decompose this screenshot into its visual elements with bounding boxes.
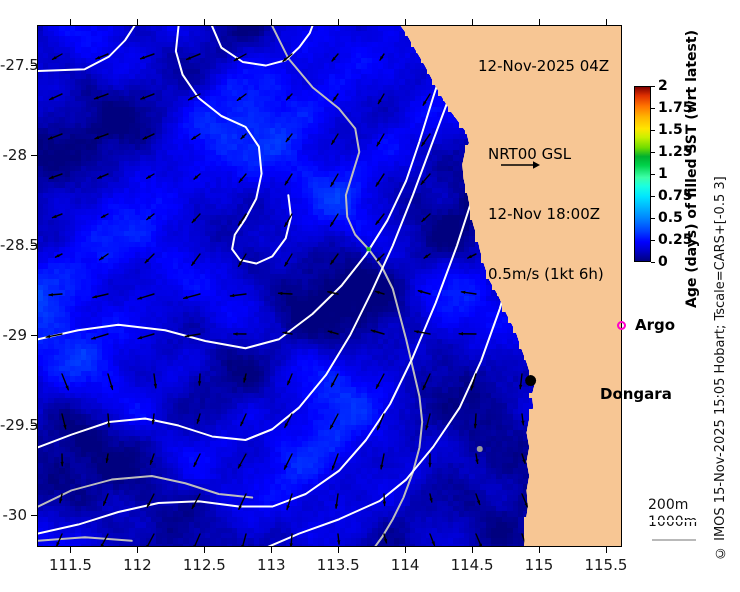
depth-1000m-label: 1000m bbox=[648, 514, 718, 531]
y-tick-label: -28.5 bbox=[0, 236, 27, 254]
colorbar bbox=[634, 86, 651, 262]
x-tick-top bbox=[606, 19, 607, 25]
colorbar-tick-label: 0 bbox=[658, 254, 668, 270]
x-tick-top bbox=[405, 19, 406, 25]
colorbar-tick bbox=[651, 86, 655, 87]
colorbar-tick-label: 1.5 bbox=[658, 122, 683, 138]
depth-200m-line bbox=[652, 520, 696, 522]
x-tick-top bbox=[472, 19, 473, 25]
y-tick-label: -28 bbox=[0, 146, 27, 164]
x-tick bbox=[539, 547, 540, 553]
colorbar-tick bbox=[651, 218, 655, 219]
x-tick-label: 115.5 bbox=[584, 556, 627, 574]
colorbar-tick bbox=[651, 196, 655, 197]
colorbar-tick bbox=[651, 130, 655, 131]
y-tick bbox=[31, 155, 37, 156]
x-tick bbox=[70, 547, 71, 553]
x-tick-label: 113 bbox=[257, 556, 286, 574]
colorbar-tick-label: 1 bbox=[658, 166, 668, 182]
depth-legend: 200m 1000m bbox=[648, 497, 718, 531]
x-tick-label: 111.5 bbox=[49, 556, 92, 574]
x-tick-top bbox=[70, 19, 71, 25]
x-tick-top bbox=[338, 19, 339, 25]
colorbar-tick-label: 2 bbox=[658, 78, 668, 94]
colorbar-tick bbox=[651, 152, 655, 153]
colorbar-tick-label: 0.5 bbox=[658, 210, 683, 226]
x-tick-top bbox=[271, 19, 272, 25]
x-tick bbox=[338, 547, 339, 553]
x-tick-top bbox=[204, 19, 205, 25]
map-plot-area[interactable]: 12-Nov-2025 04Z NRT00 GSL 12-Nov 18:00Z … bbox=[37, 25, 622, 547]
right-arrow-icon bbox=[500, 159, 540, 171]
x-tick-label: 114.5 bbox=[451, 556, 494, 574]
x-tick bbox=[606, 547, 607, 553]
x-tick-label: 112 bbox=[123, 556, 152, 574]
colorbar-tick bbox=[651, 174, 655, 175]
x-tick bbox=[271, 547, 272, 553]
y-tick-label: -29.5 bbox=[0, 416, 27, 434]
y-tick-label: -27.5 bbox=[0, 56, 27, 74]
y-tick bbox=[31, 515, 37, 516]
y-tick-label: -29 bbox=[0, 326, 27, 344]
x-tick bbox=[472, 547, 473, 553]
x-tick-top bbox=[137, 19, 138, 25]
y-tick bbox=[31, 335, 37, 336]
colorbar-tick bbox=[651, 108, 655, 109]
x-tick-label: 113.5 bbox=[317, 556, 360, 574]
depth-1000m-line bbox=[652, 539, 696, 541]
x-tick bbox=[137, 547, 138, 553]
x-tick-top bbox=[539, 19, 540, 25]
x-tick-label: 115 bbox=[525, 556, 554, 574]
dongara-label: Dongara bbox=[600, 385, 672, 403]
y-tick-label: -30 bbox=[0, 506, 27, 524]
colorbar-title: Age (days) of filled SST (wrt latest) bbox=[681, 24, 703, 314]
argo-marker-icon bbox=[617, 321, 626, 330]
current-legend-line3: 0.5m/s (1kt 6h) bbox=[488, 264, 604, 284]
argo-label: Argo bbox=[635, 316, 675, 334]
x-tick-label: 112.5 bbox=[183, 556, 226, 574]
current-legend-line2: 12-Nov 18:00Z bbox=[488, 204, 604, 224]
x-tick-label: 114 bbox=[391, 556, 420, 574]
figure-root: 12-Nov-2025 04Z NRT00 GSL 12-Nov 18:00Z … bbox=[0, 0, 740, 592]
credit-text: © IMOS 15-Nov-2025 15:05 Hobart; Tscale=… bbox=[713, 98, 733, 560]
current-legend-block: NRT00 GSL 12-Nov 18:00Z 0.5m/s (1kt 6h) bbox=[488, 104, 604, 324]
depth-200m-label: 200m bbox=[648, 497, 718, 514]
colorbar-tick bbox=[651, 240, 655, 241]
x-tick bbox=[204, 547, 205, 553]
x-tick bbox=[405, 547, 406, 553]
legend-argo: Argo bbox=[617, 316, 675, 334]
date-stamp: 12-Nov-2025 04Z bbox=[478, 57, 609, 76]
colorbar-tick bbox=[651, 262, 655, 263]
